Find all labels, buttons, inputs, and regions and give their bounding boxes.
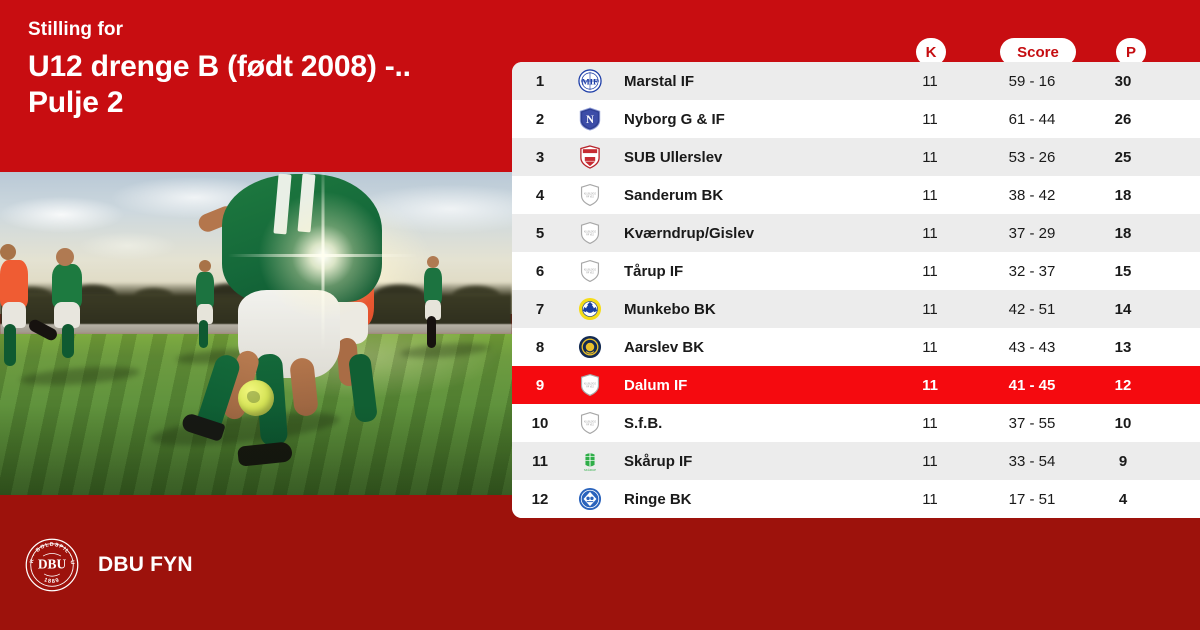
row-team-name: Skårup IF: [612, 453, 888, 470]
row-points: 12: [1092, 377, 1154, 394]
row-position: 8: [512, 339, 568, 356]
row-position: 7: [512, 301, 568, 318]
svg-text:PÅ VEJ: PÅ VEJ: [586, 386, 594, 389]
row-matches: 11: [888, 377, 972, 394]
headline-block: Stilling for U12 drenge B (født 2008) -.…: [28, 18, 498, 121]
svg-text:KLUBLOGO: KLUBLOGO: [584, 383, 596, 385]
row-matches: 11: [888, 225, 972, 242]
row-matches: 11: [888, 453, 972, 470]
table-row[interactable]: 4KLUBLOGOPÅ VEJSanderum BK1138 - 4218: [512, 176, 1200, 214]
row-score: 33 - 54: [972, 453, 1092, 470]
row-points: 14: [1092, 301, 1154, 318]
row-matches: 11: [888, 187, 972, 204]
row-team-name: Aarslev BK: [612, 339, 888, 356]
row-team-name: Sanderum BK: [612, 187, 888, 204]
svg-text:SKÅRUP: SKÅRUP: [584, 467, 596, 472]
row-points: 9: [1092, 453, 1154, 470]
row-team-name: Kværndrup/Gislev: [612, 225, 888, 242]
row-points: 10: [1092, 415, 1154, 432]
aarslev-crest-icon: [568, 334, 612, 360]
row-points: 18: [1092, 187, 1154, 204]
footer-label: DBU FYN: [98, 553, 193, 577]
table-row[interactable]: 11SKÅRUPSkårup IF1133 - 549: [512, 442, 1200, 480]
table-row[interactable]: 3SUB Ullerslev1153 - 2625: [512, 138, 1200, 176]
row-team-name: SUB Ullerslev: [612, 149, 888, 166]
row-position: 10: [512, 415, 568, 432]
svg-text:KLUBLOGO: KLUBLOGO: [584, 269, 596, 271]
stilling-graphic: Stilling for U12 drenge B (født 2008) -.…: [0, 0, 1200, 630]
row-points: 18: [1092, 225, 1154, 242]
placeholder-crest-icon: KLUBLOGOPÅ VEJ: [568, 372, 612, 398]
table-row[interactable]: 6KLUBLOGOPÅ VEJTårup IF1132 - 3715: [512, 252, 1200, 290]
row-matches: 11: [888, 73, 972, 90]
row-score: 38 - 42: [972, 187, 1092, 204]
svg-text:PÅ VEJ: PÅ VEJ: [586, 272, 594, 275]
row-score: 37 - 55: [972, 415, 1092, 432]
row-points: 26: [1092, 111, 1154, 128]
svg-text:DBU: DBU: [38, 556, 67, 571]
row-position: 1: [512, 73, 568, 90]
row-score: 43 - 43: [972, 339, 1092, 356]
row-position: 5: [512, 225, 568, 242]
table-row[interactable]: 9KLUBLOGOPÅ VEJDalum IF1141 - 4512: [512, 366, 1200, 404]
page-title: U12 drenge B (født 2008) -.. Pulje 2: [28, 49, 498, 121]
row-team-name: Dalum IF: [612, 377, 888, 394]
row-score: 59 - 16: [972, 73, 1092, 90]
row-score: 53 - 26: [972, 149, 1092, 166]
placeholder-crest-icon: KLUBLOGOPÅ VEJ: [568, 410, 612, 436]
table-row[interactable]: 7Munkebo BK1142 - 5114: [512, 290, 1200, 328]
hero-photo: [0, 172, 512, 495]
dbu-logo-icon: DANSK · BOLDSPIL · UNION 1889 DBU: [24, 537, 80, 593]
row-position: 6: [512, 263, 568, 280]
row-score: 42 - 51: [972, 301, 1092, 318]
row-team-name: S.f.B.: [612, 415, 888, 432]
row-points: 30: [1092, 73, 1154, 90]
nyborg-crest-icon: N: [568, 106, 612, 132]
table-row[interactable]: 1MIFMarstal IF1159 - 1630: [512, 62, 1200, 100]
row-score: 61 - 44: [972, 111, 1092, 128]
svg-text:KLUBLOGO: KLUBLOGO: [584, 193, 596, 195]
footer-bar: DANSK · BOLDSPIL · UNION 1889 DBU DBU FY…: [0, 500, 1200, 630]
row-matches: 11: [888, 301, 972, 318]
row-position: 11: [512, 453, 568, 470]
row-score: 32 - 37: [972, 263, 1092, 280]
table-row[interactable]: 8Aarslev BK1143 - 4313: [512, 328, 1200, 366]
svg-text:PÅ VEJ: PÅ VEJ: [586, 196, 594, 199]
svg-text:PÅ VEJ: PÅ VEJ: [586, 234, 594, 237]
placeholder-crest-icon: KLUBLOGOPÅ VEJ: [568, 220, 612, 246]
row-matches: 11: [888, 149, 972, 166]
svg-text:PÅ VEJ: PÅ VEJ: [586, 424, 594, 427]
row-team-name: Munkebo BK: [612, 301, 888, 318]
placeholder-crest-icon: KLUBLOGOPÅ VEJ: [568, 258, 612, 284]
ullerslev-crest-icon: [568, 144, 612, 170]
row-points: 15: [1092, 263, 1154, 280]
row-team-name: Tårup IF: [612, 263, 888, 280]
row-points: 25: [1092, 149, 1154, 166]
table-row[interactable]: 2NNyborg G & IF1161 - 4426: [512, 100, 1200, 138]
svg-text:1889: 1889: [43, 577, 61, 585]
row-score: 41 - 45: [972, 377, 1092, 394]
row-position: 2: [512, 111, 568, 128]
svg-text:KLUBLOGO: KLUBLOGO: [584, 231, 596, 233]
row-matches: 11: [888, 263, 972, 280]
kicker-text: Stilling for: [28, 18, 498, 42]
row-matches: 11: [888, 415, 972, 432]
marstal-crest-icon: MIF: [568, 68, 612, 94]
row-position: 3: [512, 149, 568, 166]
row-points: 13: [1092, 339, 1154, 356]
row-position: 4: [512, 187, 568, 204]
row-score: 37 - 29: [972, 225, 1092, 242]
row-matches: 11: [888, 339, 972, 356]
row-matches: 11: [888, 111, 972, 128]
svg-text:KLUBLOGO: KLUBLOGO: [584, 421, 596, 423]
row-team-name: Nyborg G & IF: [612, 111, 888, 128]
table-row[interactable]: 5KLUBLOGOPÅ VEJKværndrup/Gislev1137 - 29…: [512, 214, 1200, 252]
photo-vignette: [0, 172, 512, 495]
table-row[interactable]: 10KLUBLOGOPÅ VEJS.f.B.1137 - 5510: [512, 404, 1200, 442]
svg-text:N: N: [586, 114, 594, 126]
row-team-name: Marstal IF: [612, 73, 888, 90]
skaarup-crest-icon: SKÅRUP: [568, 448, 612, 474]
row-position: 9: [512, 377, 568, 394]
svg-text:MIF: MIF: [582, 76, 598, 86]
standings-table: 1MIFMarstal IF1159 - 16302NNyborg G & IF…: [512, 62, 1200, 518]
munkebo-crest-icon: [568, 296, 612, 322]
placeholder-crest-icon: KLUBLOGOPÅ VEJ: [568, 182, 612, 208]
